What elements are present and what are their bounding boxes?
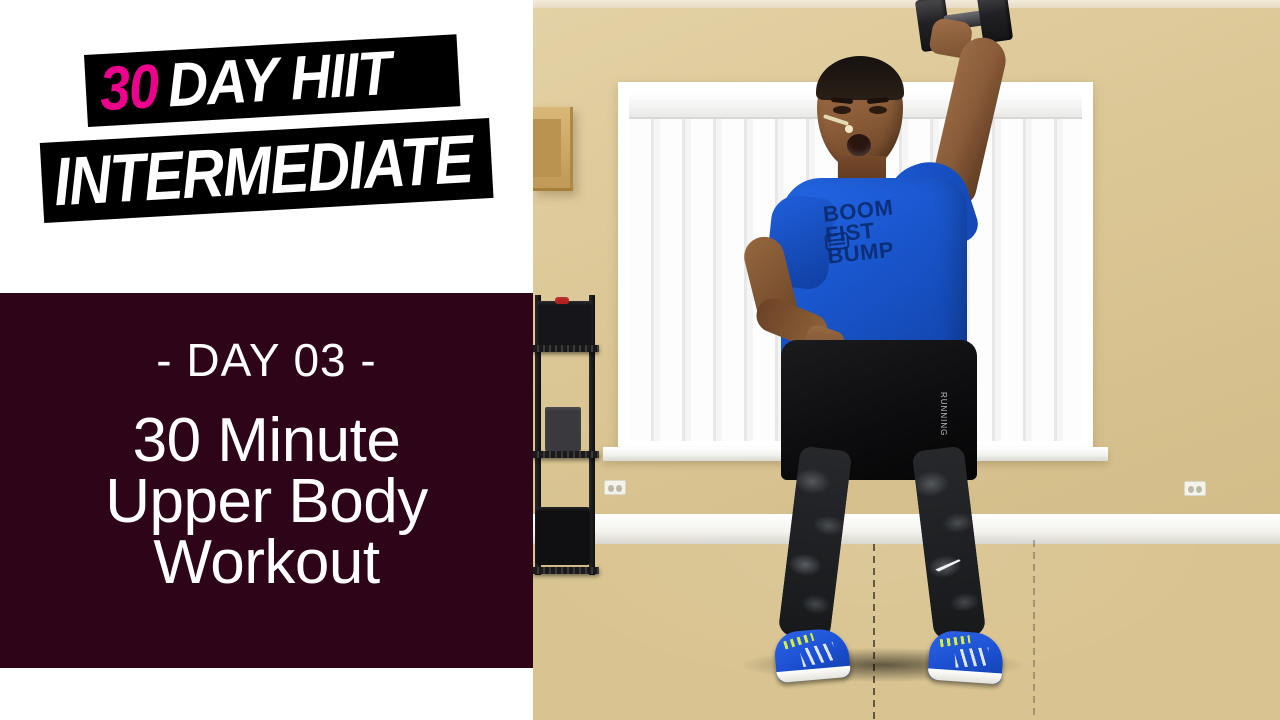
headset-microphone-tip: [845, 125, 853, 133]
title-panel: 30 DAY HIIT INTERMEDIATE - DAY 03 - 30 M…: [0, 0, 533, 720]
logo-text-intermediate: INTERMEDIATE: [52, 125, 474, 216]
shorts-brand-text: RUNNING: [939, 392, 948, 436]
logo-bar-top: 30 DAY HIIT: [84, 34, 460, 127]
logo-bar-bottom: INTERMEDIATE: [40, 118, 494, 223]
shoe-laces: [940, 635, 971, 647]
shoe-stripes: [799, 642, 836, 667]
fist-icon: [824, 232, 850, 251]
left-shoe: [773, 627, 851, 683]
eye-right: [869, 106, 887, 114]
video-thumbnail: 30 DAY HIIT INTERMEDIATE - DAY 03 - 30 M…: [0, 0, 1280, 720]
logo-text-day-hiit: DAY HIIT: [166, 43, 392, 117]
workout-title: 30 Minute Upper Body Workout: [83, 411, 449, 593]
workout-title-line-3: Workout: [105, 533, 427, 594]
shoe-stripes: [954, 647, 989, 667]
logo-number-30: 30: [98, 56, 159, 121]
workout-photo: BOOM FIST BUMP RUNNING: [533, 0, 1280, 720]
workout-title-line-2: Upper Body: [105, 472, 427, 533]
day-label: - DAY 03 -: [156, 337, 376, 383]
right-shoe: [927, 629, 1004, 684]
t-shirt-graphic-text: BOOM FIST BUMP: [822, 192, 938, 266]
eye-left: [833, 106, 851, 114]
trainer-figure: BOOM FIST BUMP RUNNING: [533, 0, 1280, 720]
workout-title-line-1: 30 Minute: [105, 411, 427, 472]
workout-info-plate: - DAY 03 - 30 Minute Upper Body Workout: [0, 293, 533, 668]
program-logo: 30 DAY HIIT INTERMEDIATE: [0, 0, 533, 293]
mouth: [847, 134, 871, 156]
hair: [816, 56, 904, 100]
